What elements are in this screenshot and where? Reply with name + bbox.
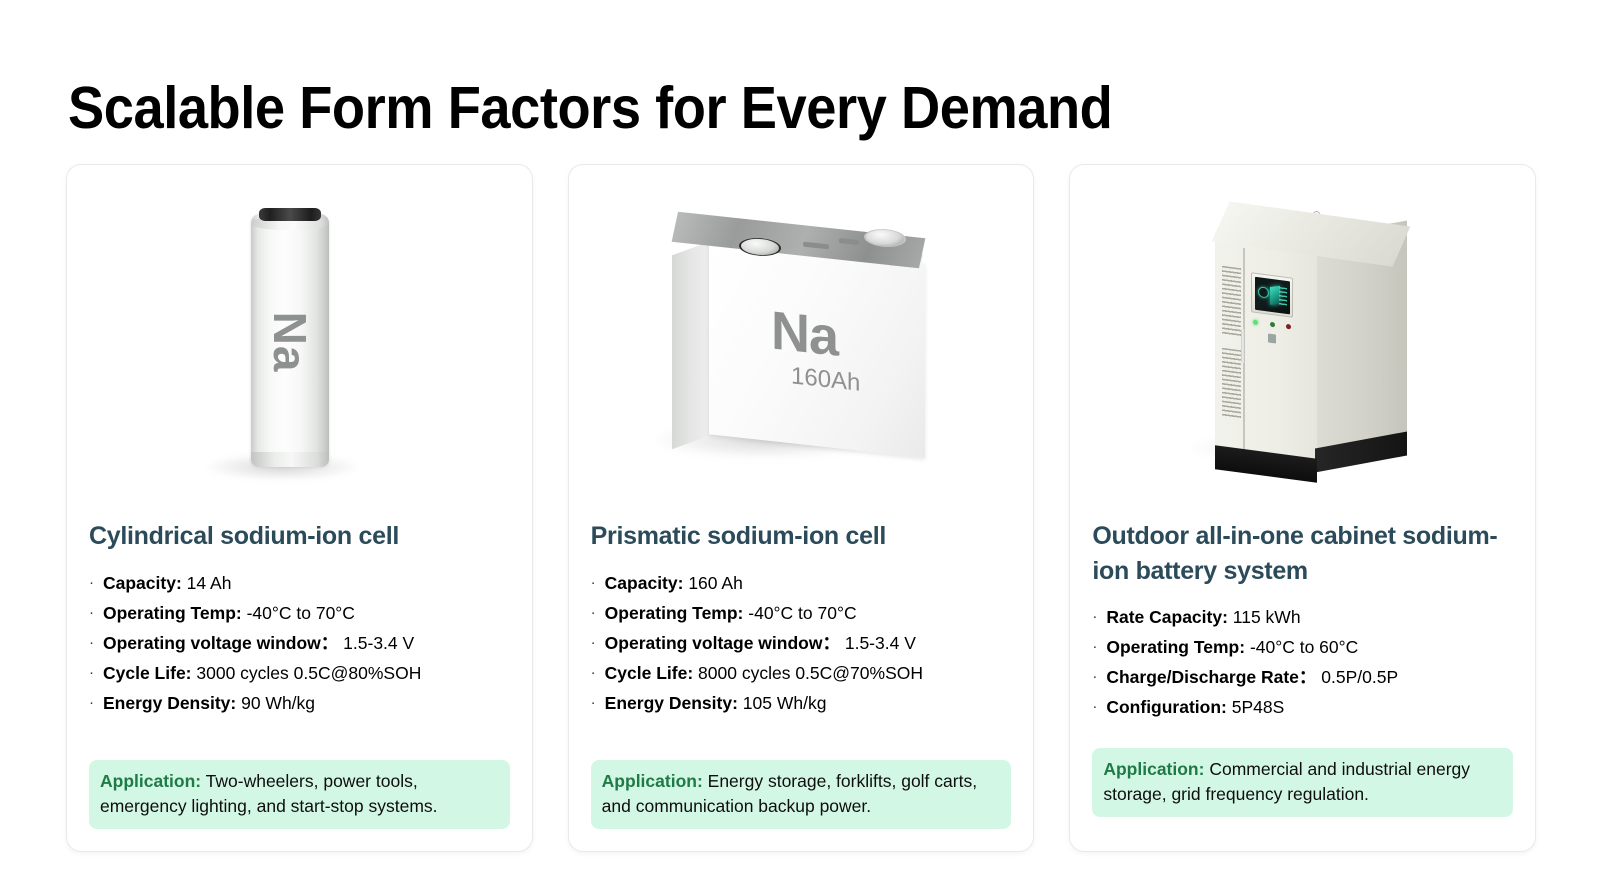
bullet-icon: ·	[1092, 699, 1106, 714]
bullet-icon: ·	[89, 575, 103, 590]
product-card-grid: Na Cylindrical sodium-ion cell · Capacit…	[66, 164, 1536, 852]
cabinet-emblem-icon	[1268, 333, 1276, 343]
cell-side-face	[672, 241, 712, 450]
cabinet-graphic	[1163, 201, 1443, 481]
product-card-cabinet[interactable]: Outdoor all-in-one cabinet sodium-ion ba…	[1069, 164, 1536, 852]
spec-key: Rate Capacity:	[1106, 607, 1228, 627]
spec-key: Operating Temp:	[1106, 637, 1245, 657]
spec-item: · Operating Temp: -40°C to 70°C	[89, 598, 510, 628]
bullet-icon: ·	[591, 665, 605, 680]
spec-value: 14 Ah	[187, 573, 232, 593]
hmi-display	[1251, 272, 1293, 318]
page-title: Scalable Form Factors for Every Demand	[68, 74, 1112, 142]
bullet-icon: ·	[89, 695, 103, 710]
cell-element-label: Na	[244, 299, 336, 385]
spec-value: -40°C to 70°C	[748, 603, 856, 623]
led-darkgreen-icon	[1269, 322, 1274, 328]
spec-item: · Charge/Discharge Rate： 0.5P/0.5P	[1092, 662, 1513, 692]
prismatic-cell-graphic: Na 160Ah	[651, 211, 951, 471]
ventilation-louver-icon	[1222, 266, 1241, 337]
bullet-icon: ·	[1092, 669, 1106, 684]
spec-key: Capacity:	[605, 573, 684, 593]
spec-item: · Energy Density: 90 Wh/kg	[89, 688, 510, 718]
spec-key: Operating voltage window：	[605, 633, 840, 653]
spec-list-prismatic: · Capacity: 160 Ah · Operating Temp: -40…	[591, 568, 1012, 718]
spec-item: · Configuration: 5P48S	[1092, 692, 1513, 722]
spec-key: Energy Density:	[103, 693, 236, 713]
ventilation-louver-icon	[1222, 348, 1241, 419]
card-title-cabinet: Outdoor all-in-one cabinet sodium-ion ba…	[1092, 519, 1513, 588]
cell-bottom-rim	[251, 452, 329, 467]
spec-value: 160 Ah	[688, 573, 743, 593]
card-title-prismatic: Prismatic sodium-ion cell	[591, 519, 1012, 554]
spec-list-cabinet: · Rate Capacity: 115 kWh · Operating Tem…	[1092, 602, 1513, 722]
spec-key: Configuration:	[1106, 697, 1227, 717]
spec-key: Capacity:	[103, 573, 182, 593]
spec-value: 8000 cycles 0.5C@70%SOH	[698, 663, 923, 683]
card-title-cylindrical: Cylindrical sodium-ion cell	[89, 519, 510, 554]
product-card-cylindrical[interactable]: Na Cylindrical sodium-ion cell · Capacit…	[66, 164, 533, 852]
cabinet-door-handle	[1241, 329, 1245, 364]
spec-key: Charge/Discharge Rate：	[1106, 667, 1316, 687]
spec-item: · Operating Temp: -40°C to 60°C	[1092, 632, 1513, 662]
spec-key: Operating Temp:	[605, 603, 744, 623]
spec-value: -40°C to 70°C	[247, 603, 355, 623]
spec-item: · Energy Density: 105 Wh/kg	[591, 688, 1012, 718]
spec-item: · Rate Capacity: 115 kWh	[1092, 602, 1513, 632]
spec-value: 3000 cycles 0.5C@80%SOH	[196, 663, 421, 683]
application-label: Application:	[1103, 759, 1204, 779]
spec-item: · Cycle Life: 3000 cycles 0.5C@80%SOH	[89, 658, 510, 688]
spec-value: 1.5-3.4 V	[845, 633, 916, 653]
spec-value: 1.5-3.4 V	[343, 633, 414, 653]
hmi-screen-content	[1254, 276, 1289, 314]
gauge-icon	[1258, 286, 1269, 298]
spec-key: Cycle Life:	[605, 663, 694, 683]
spec-item: · Operating Temp: -40°C to 70°C	[591, 598, 1012, 628]
bullet-icon: ·	[89, 635, 103, 650]
spec-item: · Operating voltage window： 1.5-3.4 V	[591, 628, 1012, 658]
bullet-icon: ·	[591, 695, 605, 710]
cell-terminal-cap	[259, 208, 321, 221]
spec-value: 5P48S	[1232, 697, 1285, 717]
application-label: Application:	[602, 771, 703, 791]
prismatic-cell-image: Na 160Ah	[591, 165, 1012, 517]
spec-key: Operating voltage window：	[103, 633, 338, 653]
bullet-icon: ·	[591, 605, 605, 620]
spec-item: · Operating voltage window： 1.5-3.4 V	[89, 628, 510, 658]
spec-value: 0.5P/0.5P	[1321, 667, 1398, 687]
slide-root: Scalable Form Factors for Every Demand N…	[0, 0, 1600, 893]
led-red-icon	[1286, 324, 1291, 330]
bullet-icon: ·	[1092, 639, 1106, 654]
spec-item: · Cycle Life: 8000 cycles 0.5C@70%SOH	[591, 658, 1012, 688]
cell-element-label: Na	[771, 299, 838, 368]
led-green-icon	[1253, 319, 1258, 325]
spec-item: · Capacity: 14 Ah	[89, 568, 510, 598]
spec-key: Operating Temp:	[103, 603, 242, 623]
application-label: Application:	[100, 771, 201, 791]
spec-value: 105 Wh/kg	[743, 693, 827, 713]
bullet-icon: ·	[591, 635, 605, 650]
spec-key: Cycle Life:	[103, 663, 192, 683]
bullet-icon: ·	[89, 665, 103, 680]
product-card-prismatic[interactable]: Na 160Ah Prismatic sodium-ion cell · Cap…	[568, 164, 1035, 852]
spec-value: 115 kWh	[1233, 607, 1301, 627]
spec-item: · Capacity: 160 Ah	[591, 568, 1012, 598]
spec-value: -40°C to 60°C	[1250, 637, 1358, 657]
cylindrical-cell-graphic: Na	[199, 196, 399, 486]
bullet-icon: ·	[1092, 609, 1106, 624]
bullet-icon: ·	[89, 605, 103, 620]
spec-value: 90 Wh/kg	[241, 693, 315, 713]
bar-readout-icon	[1279, 287, 1287, 305]
spec-key: Energy Density:	[605, 693, 738, 713]
outdoor-cabinet-image	[1092, 165, 1513, 517]
application-callout: Application: Two-wheelers, power tools, …	[89, 760, 510, 829]
application-callout: Application: Energy storage, forklifts, …	[591, 760, 1012, 829]
application-callout: Application: Commercial and industrial e…	[1092, 748, 1513, 817]
cylindrical-cell-image: Na	[89, 165, 510, 517]
bullet-icon: ·	[591, 575, 605, 590]
spec-list-cylindrical: · Capacity: 14 Ah · Operating Temp: -40°…	[89, 568, 510, 718]
